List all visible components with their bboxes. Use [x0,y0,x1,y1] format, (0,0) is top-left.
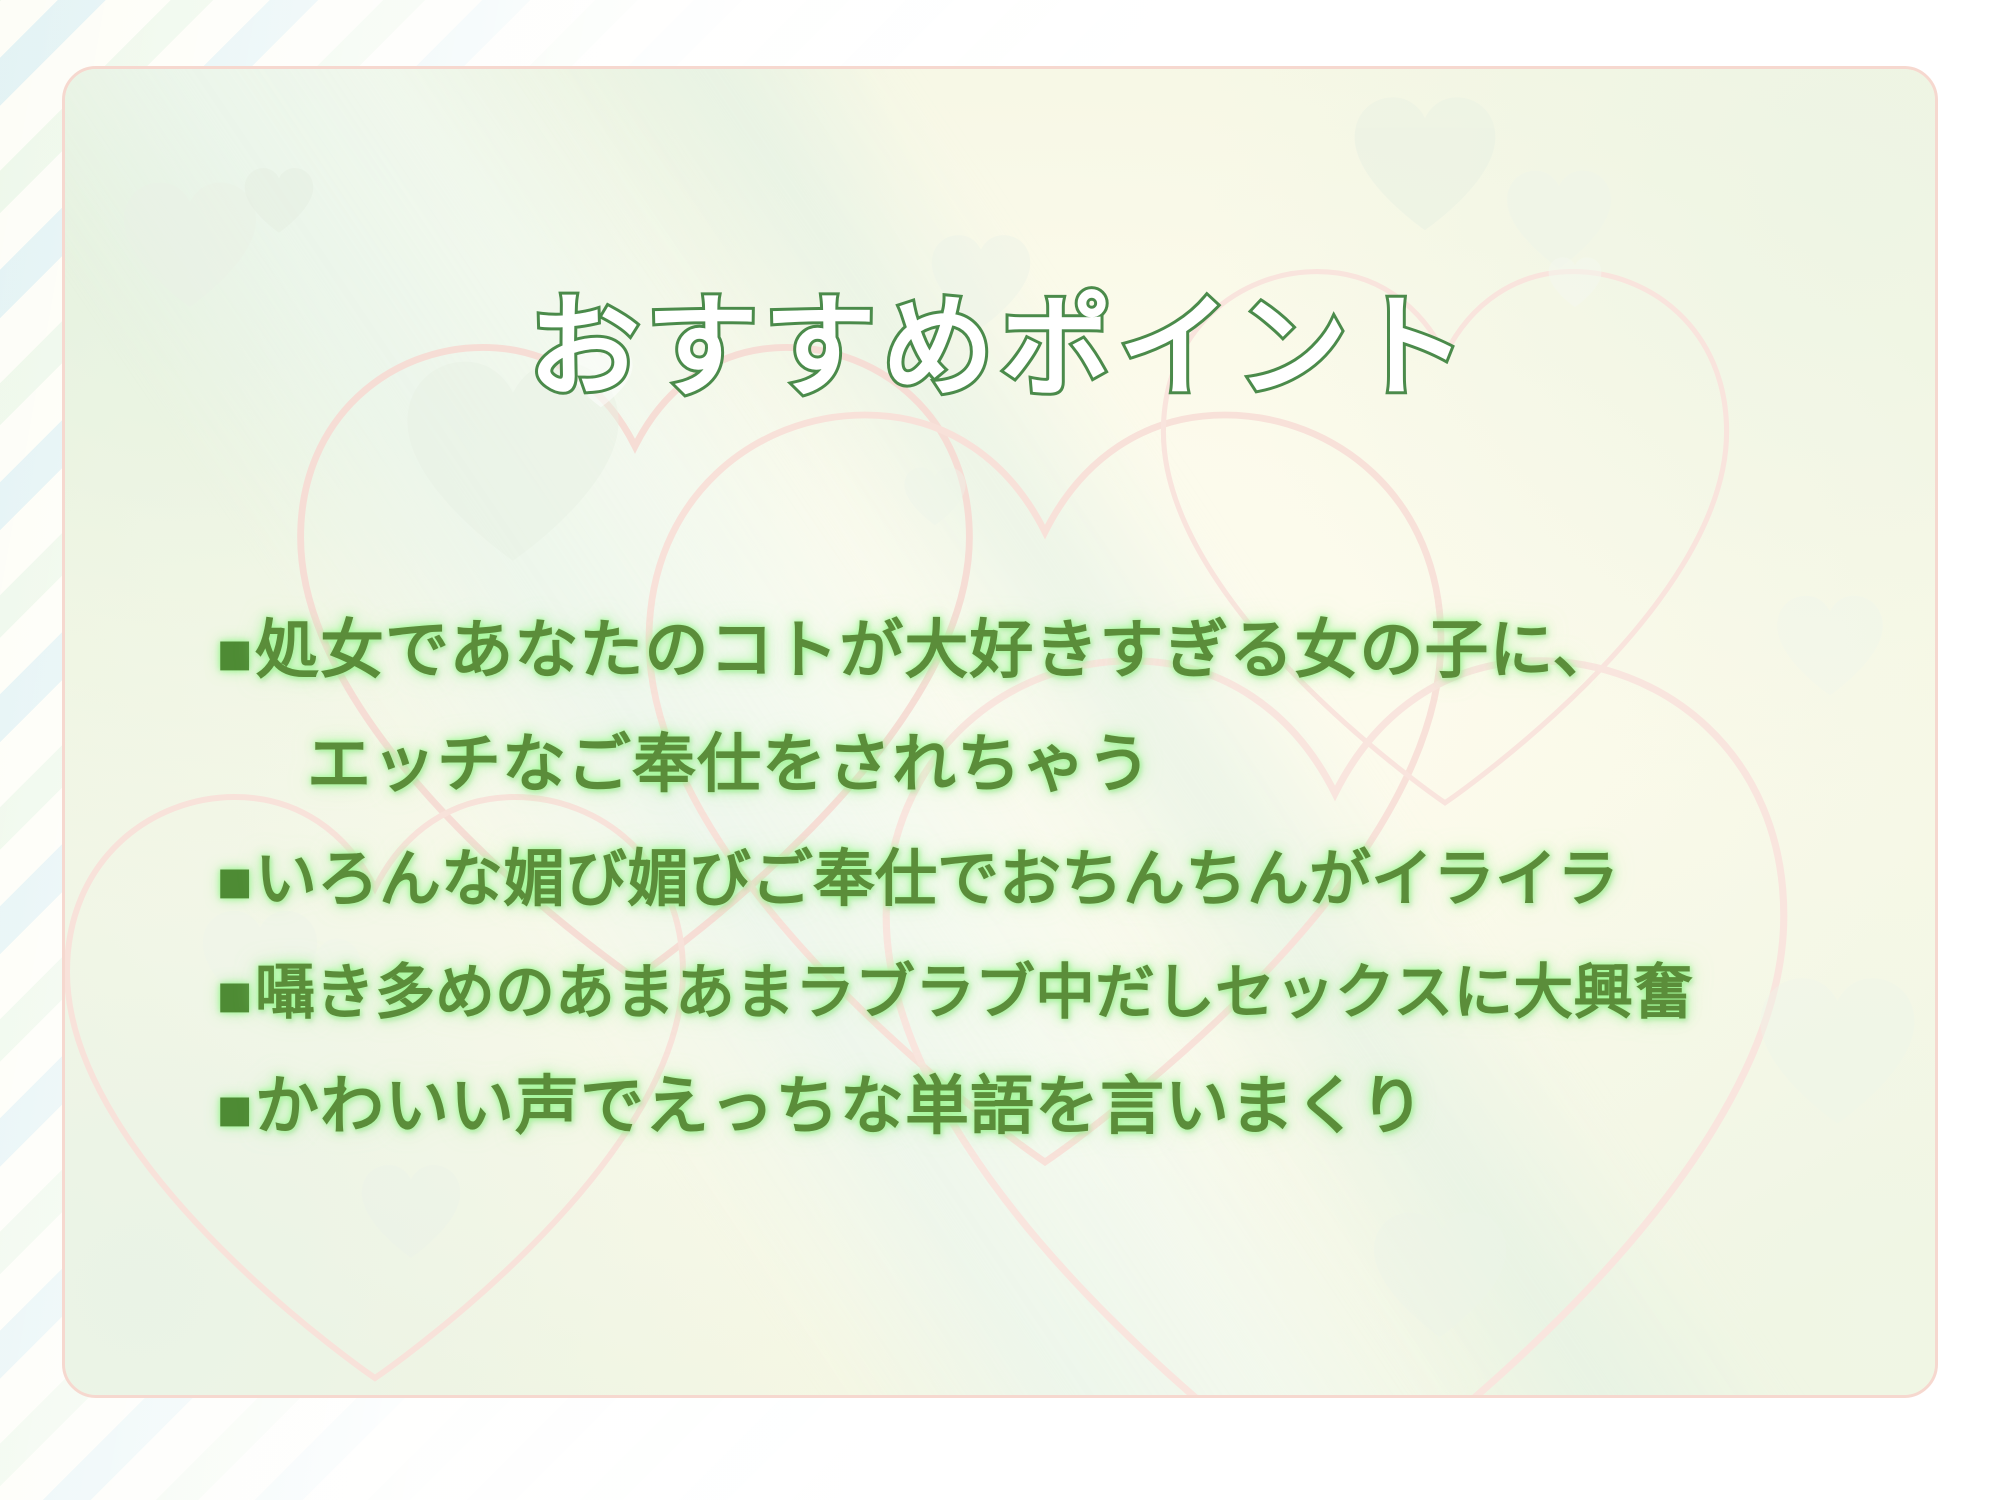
list-item-text: 処女であなたのコトが大好きすぎる女の子に、 [255,599,1617,703]
page-title-container: おすすめポイント [65,287,1935,410]
bullet-marker-icon: ▪ [215,827,255,931]
list-item: ▪ 処女であなたのコトが大好きすぎる女の子に、 [215,599,1915,703]
highlights-list: ▪ 処女であなたのコトが大好きすぎる女の子に、 エッチなご奉仕をされちゃう ▪ … [215,599,1915,1169]
list-item: ▪ かわいい声でえっちな単語を言いまくり [215,1055,1915,1159]
bullet-marker-icon: ▪ [215,1055,255,1159]
list-item: ▪ いろんな媚び媚びご奉仕でおちんちんがイライラ [215,827,1915,931]
content-card: おすすめポイント ▪ 処女であなたのコトが大好きすぎる女の子に、 エッチなご奉仕… [62,66,1938,1398]
list-item-text: かわいい声でえっちな単語を言いまくり [255,1055,1425,1159]
slide-canvas: おすすめポイント ▪ 処女であなたのコトが大好きすぎる女の子に、 エッチなご奉仕… [0,0,2000,1500]
list-item-text: 囁き多めのあまあまラブラブ中だしセックスに大興奮 [255,941,1693,1045]
bullet-marker-icon: ▪ [215,941,255,1045]
list-item-text: いろんな媚び媚びご奉仕でおちんちんがイライラ [255,827,1619,931]
list-item: ▪ 囁き多めのあまあまラブラブ中だしセックスに大興奮 [215,941,1915,1045]
page-title: おすすめポイント [528,287,1472,410]
bullet-marker-icon: ▪ [215,599,255,703]
list-item-continuation: エッチなご奉仕をされちゃう [215,713,1915,817]
list-item-text: エッチなご奉仕をされちゃう [307,713,1152,817]
